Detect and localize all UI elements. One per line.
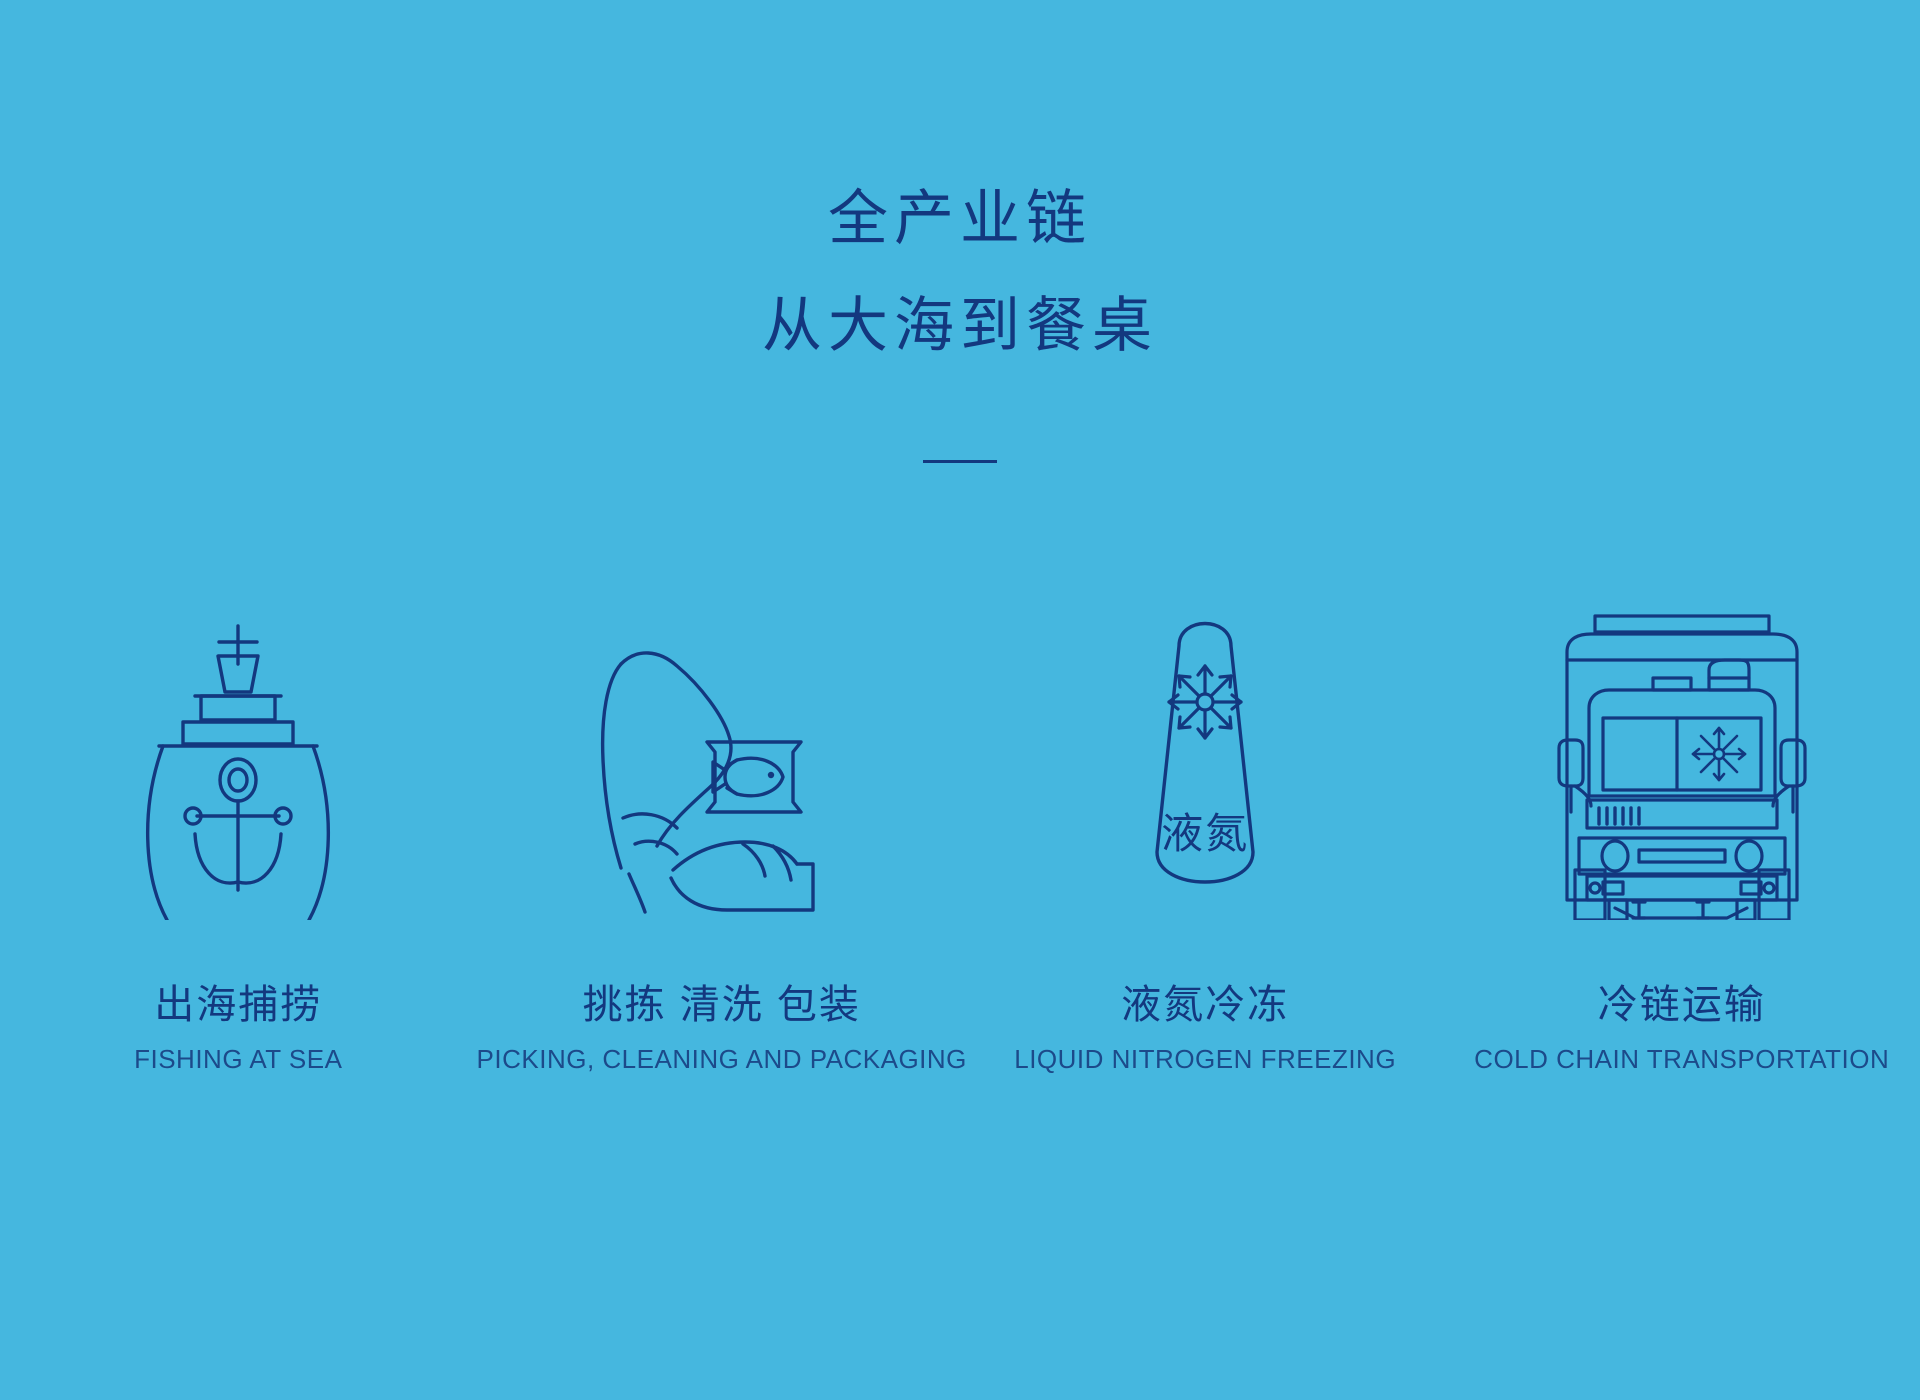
step-title-en: LIQUID NITROGEN FREEZING bbox=[1014, 1044, 1396, 1075]
refrigerated-truck-icon bbox=[1557, 600, 1807, 920]
step-title-cn: 出海捕捞 bbox=[134, 980, 342, 1030]
tank-label: 液氮 bbox=[1135, 800, 1275, 861]
step-title-en: FISHING AT SEA bbox=[134, 1044, 342, 1075]
title-line-2: 从大海到餐桌 bbox=[0, 287, 1920, 366]
process-steps: 出海捕捞 FISHING AT SEA bbox=[0, 520, 1920, 1075]
icon-box bbox=[1557, 520, 1807, 920]
icon-box bbox=[123, 520, 353, 920]
step-picking-cleaning-packaging[interactable]: 挑拣 清洗 包装 PICKING, CLEANING AND PACKAGING bbox=[477, 520, 967, 1075]
step-fishing-at-sea[interactable]: 出海捕捞 FISHING AT SEA bbox=[0, 520, 477, 1075]
snowflake-icon bbox=[1693, 728, 1745, 780]
liquid-nitrogen-tank-icon bbox=[1135, 590, 1275, 920]
title-line-1: 全产业链 bbox=[0, 180, 1920, 259]
snowflake-icon bbox=[1169, 666, 1241, 738]
step-title-en: COLD CHAIN TRANSPORTATION bbox=[1474, 1044, 1889, 1075]
step-caption: 液氮冷冻 LIQUID NITROGEN FREEZING bbox=[1014, 980, 1396, 1075]
title-divider bbox=[923, 460, 997, 463]
step-cold-chain-transportation[interactable]: 冷链运输 COLD CHAIN TRANSPORTATION bbox=[1443, 520, 1920, 1075]
step-title-cn: 冷链运输 bbox=[1474, 980, 1889, 1030]
step-title-cn: 液氮冷冻 bbox=[1014, 980, 1396, 1030]
step-caption: 冷链运输 COLD CHAIN TRANSPORTATION bbox=[1474, 980, 1889, 1075]
title-divider-wrap bbox=[0, 460, 1920, 463]
step-title-cn: 挑拣 清洗 包装 bbox=[477, 980, 967, 1030]
step-title-en: PICKING, CLEANING AND PACKAGING bbox=[477, 1044, 967, 1075]
icon-box bbox=[577, 520, 867, 920]
step-liquid-nitrogen-freezing[interactable]: 液氮 液氮冷冻 LIQUID NITROGEN FREEZING bbox=[967, 520, 1444, 1075]
page-title: 全产业链 从大海到餐桌 bbox=[0, 180, 1920, 366]
hands-fish-package-icon bbox=[577, 620, 867, 920]
infographic-page: 全产业链 从大海到餐桌 bbox=[0, 0, 1920, 1400]
step-caption: 出海捕捞 FISHING AT SEA bbox=[134, 980, 342, 1075]
fishing-boat-anchor-icon bbox=[123, 620, 353, 920]
step-caption: 挑拣 清洗 包装 PICKING, CLEANING AND PACKAGING bbox=[477, 980, 967, 1075]
